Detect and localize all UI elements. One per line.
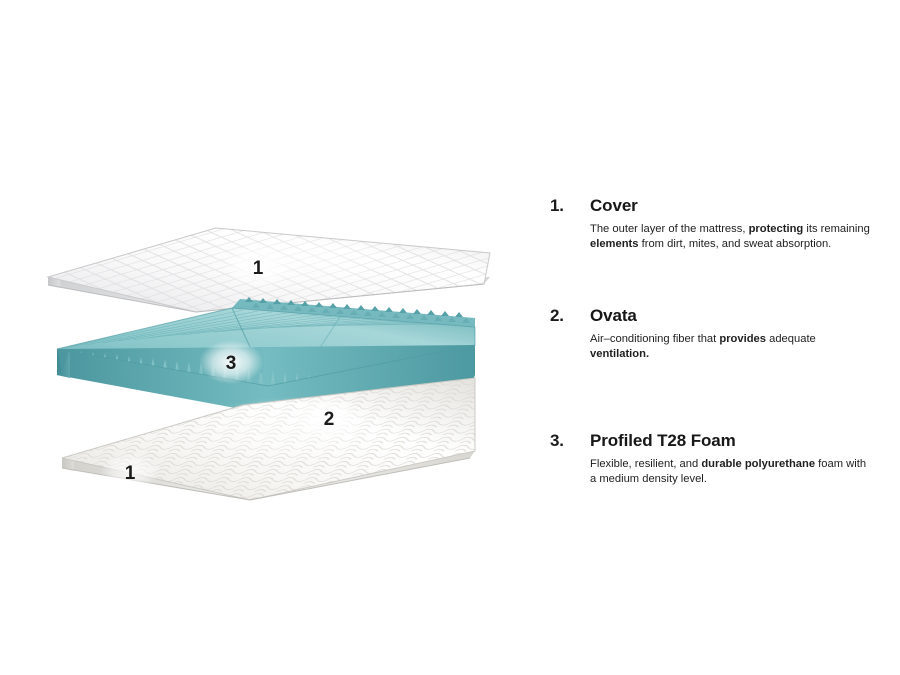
mattress-layers-diagram: 1 — [0, 0, 530, 675]
legend-index-3: 3. — [550, 431, 564, 451]
legend-index-2: 2. — [550, 306, 564, 326]
legend-item-ovata: 2. Ovata Air–conditioning fiber that pro… — [545, 306, 875, 362]
layer-number-cover: 1 — [253, 258, 264, 279]
legend-item-profiled-foam: 3. Profiled T28 Foam Flexible, resilient… — [545, 431, 875, 487]
legend-desc-profiled-foam: Flexible, resilient, and durable polyure… — [590, 457, 875, 487]
legend-title-profiled-foam: Profiled T28 Foam — [590, 431, 875, 451]
legend-index-1: 1. — [550, 196, 564, 216]
cover-highlight — [190, 232, 410, 292]
legend-desc-cover: The outer layer of the mattress, protect… — [590, 222, 875, 252]
legend-list: 1. Cover The outer layer of the mattress… — [545, 0, 890, 675]
legend-title-cover: Cover — [590, 196, 875, 216]
layer-number-base-cover: 1 — [125, 463, 136, 484]
layer-number-ovata: 2 — [324, 409, 335, 430]
layer-number-profiled-foam: 3 — [226, 353, 237, 374]
legend-title-ovata: Ovata — [590, 306, 875, 326]
layer-cover: 1 — [48, 228, 490, 312]
legend-item-cover: 1. Cover The outer layer of the mattress… — [545, 196, 875, 252]
legend-desc-ovata: Air–conditioning fiber that provides ade… — [590, 332, 875, 362]
